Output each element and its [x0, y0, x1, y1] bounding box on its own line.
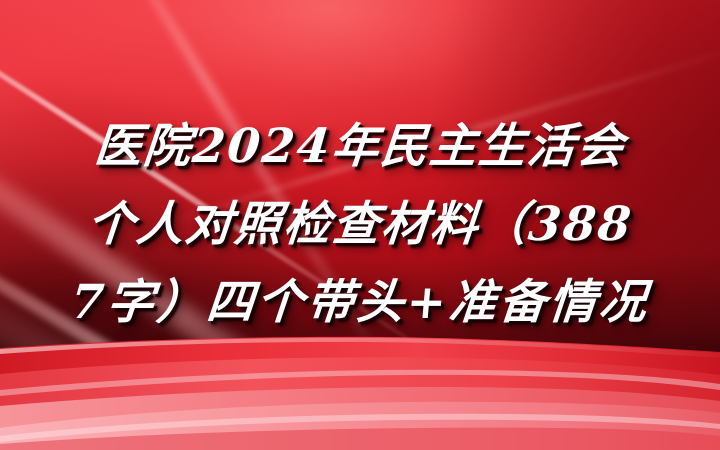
title-line-2: 个人对照检查材料（388 — [0, 186, 720, 264]
poster-title: 医院2024年民主生活会 个人对照检查材料（388 7字）四个带头+准备情况 — [0, 108, 720, 342]
poster-canvas: 医院2024年民主生活会 个人对照检查材料（388 7字）四个带头+准备情况 — [0, 0, 720, 450]
ribbon-svg — [0, 332, 720, 450]
bottom-ribbon-waves — [0, 332, 720, 450]
title-line-3: 7字）四个带头+准备情况 — [0, 264, 720, 342]
title-line-1: 医院2024年民主生活会 — [0, 108, 720, 186]
